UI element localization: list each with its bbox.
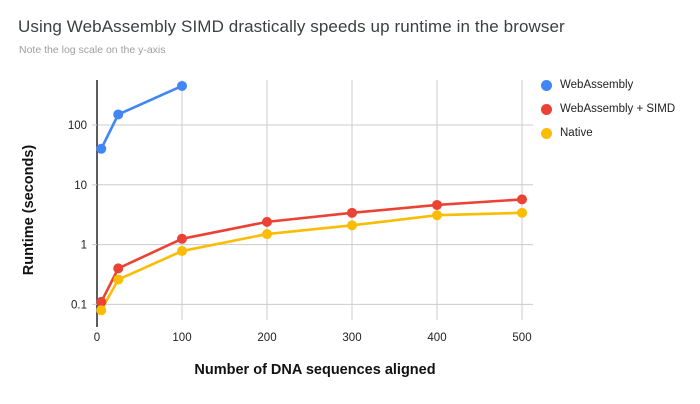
- data-point-marker[interactable]: [113, 263, 123, 273]
- data-point-marker[interactable]: [432, 210, 442, 220]
- x-tick-label: 300: [342, 332, 361, 344]
- y-tick-label: 1: [81, 240, 87, 252]
- legend-color-dot-icon: [541, 104, 552, 115]
- data-point-marker[interactable]: [177, 81, 187, 91]
- y-tick-label: 0.1: [71, 299, 87, 311]
- data-point-marker[interactable]: [96, 305, 106, 315]
- data-point-marker[interactable]: [517, 194, 527, 204]
- data-point-marker[interactable]: [96, 144, 106, 154]
- legend-label: WebAssembly + SIMD: [560, 103, 675, 115]
- data-point-marker[interactable]: [432, 200, 442, 210]
- data-point-marker[interactable]: [113, 109, 123, 119]
- x-tick-label: 100: [172, 332, 191, 344]
- chart-container: Using WebAssembly SIMD drastically speed…: [0, 0, 700, 404]
- x-gridlines: [182, 80, 522, 320]
- legend-item[interactable]: WebAssembly + SIMD: [541, 97, 700, 121]
- data-point-marker[interactable]: [347, 220, 357, 230]
- x-axis-title: Number of DNA sequences aligned: [100, 362, 530, 378]
- data-point-marker[interactable]: [262, 217, 272, 227]
- x-tick-label: 500: [512, 332, 531, 344]
- y-tick-label: 100: [68, 120, 87, 132]
- data-series-layer: [96, 81, 527, 315]
- data-point-marker[interactable]: [177, 246, 187, 256]
- data-point-marker[interactable]: [517, 208, 527, 218]
- legend-label: WebAssembly: [560, 79, 633, 91]
- x-tick-labels: 0100200300400500: [94, 332, 532, 344]
- legend-label: Native: [560, 127, 593, 139]
- y-tick-label: 10: [74, 180, 87, 192]
- x-tick-label: 400: [427, 332, 446, 344]
- x-tick-label: 0: [94, 332, 100, 344]
- plot-area: 0.1110100 0100200300400500: [0, 0, 700, 404]
- y-tick-labels: 0.1110100: [68, 120, 97, 311]
- x-tick-label: 200: [257, 332, 276, 344]
- series-line: [101, 86, 182, 149]
- chart-legend: WebAssemblyWebAssembly + SIMDNative: [541, 73, 700, 145]
- data-point-marker[interactable]: [347, 208, 357, 218]
- series-line: [101, 213, 522, 310]
- legend-item[interactable]: Native: [541, 121, 700, 145]
- y-axis-title: Runtime (seconds): [21, 120, 37, 300]
- legend-item[interactable]: WebAssembly: [541, 73, 700, 97]
- data-point-marker[interactable]: [262, 229, 272, 239]
- data-point-marker[interactable]: [177, 234, 187, 244]
- legend-color-dot-icon: [541, 128, 552, 139]
- data-point-marker[interactable]: [113, 275, 123, 285]
- legend-color-dot-icon: [541, 80, 552, 91]
